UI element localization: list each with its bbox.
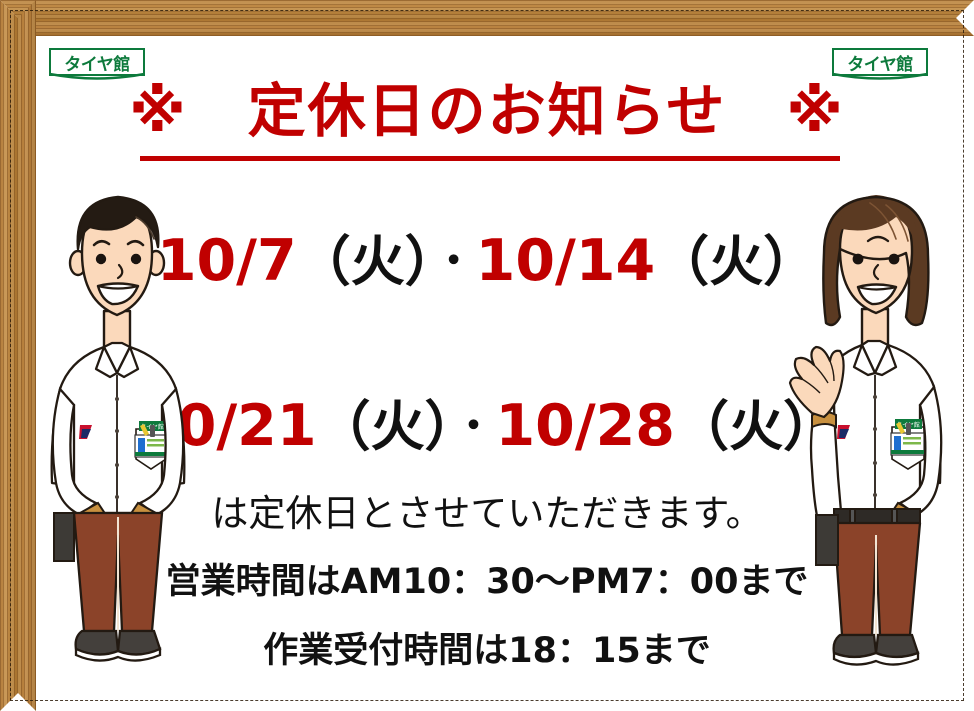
female-staff-illustration: タイヤ館 xyxy=(788,183,956,671)
closed-days-poster: タイヤ館 タイヤ館 ※ 定休日のお知らせ ※ 10/7（火）・10/14（火） … xyxy=(0,0,974,711)
closed-date-value: 10/28 xyxy=(496,393,675,459)
name-badge: タイヤ館 xyxy=(135,421,167,457)
closed-date-weekday: （火） xyxy=(297,230,432,293)
page-title: ※ 定休日のお知らせ ※ xyxy=(37,78,937,144)
tireland-logo-right: タイヤ館 xyxy=(832,48,928,82)
male-staff-illustration: タイヤ館 xyxy=(40,183,200,671)
title-underline xyxy=(140,156,840,161)
date-separator: ・ xyxy=(432,238,476,284)
closed-date-weekday: （火） xyxy=(317,395,452,458)
date-separator: ・ xyxy=(452,403,496,449)
logo-label-right: タイヤ館 xyxy=(832,48,928,76)
name-badge: タイヤ館 xyxy=(891,419,924,455)
closed-date-value: 10/14 xyxy=(476,228,655,294)
logo-label-left: タイヤ館 xyxy=(49,48,145,76)
